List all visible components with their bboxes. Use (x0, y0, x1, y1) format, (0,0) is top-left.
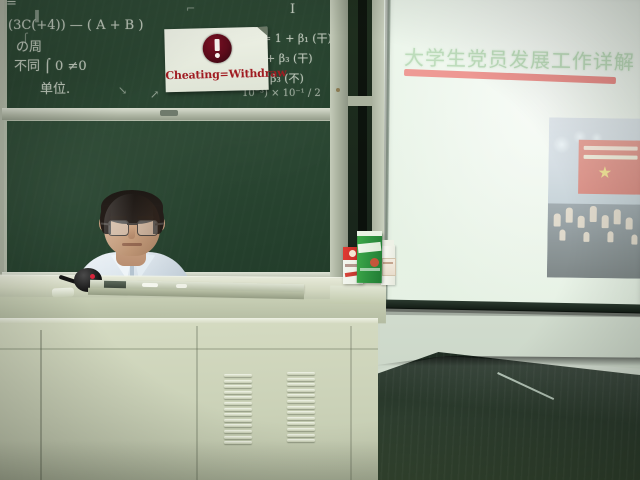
chalk-text: ⌐ (186, 2, 195, 15)
vent-slat (224, 408, 252, 411)
green-box-seal (370, 258, 379, 267)
vent-slat (287, 389, 315, 392)
slide-photo (547, 117, 640, 278)
chalk-text: ↗ (150, 88, 159, 101)
green-product-box (357, 233, 382, 283)
chalk-text: の周 (16, 36, 42, 55)
photo-red-banner (578, 140, 640, 195)
warning-sign-text: Cheating=Withdraw (165, 67, 268, 83)
vent-slat (287, 422, 315, 425)
chalk-text: = 1 + β₁ (干) (262, 30, 332, 46)
microphone-indicator-light (90, 274, 95, 279)
vent-slat (287, 417, 315, 420)
vent-slat (224, 374, 252, 377)
vent-slat (287, 434, 315, 437)
chalk-text: = (6, 0, 17, 11)
photo-crowd (547, 203, 640, 278)
chalk-text: ↘ (118, 84, 127, 97)
desk-surface-right (330, 286, 386, 305)
vent-slat (287, 400, 315, 403)
chalk-stick (176, 284, 187, 288)
green-box-text (360, 268, 380, 271)
vent-slat (287, 428, 315, 431)
chalk-text: 单位. (40, 78, 70, 97)
column-screw (336, 88, 340, 92)
exclamation-dot-icon (215, 53, 220, 58)
vent-slat (224, 380, 252, 383)
vent-slat (224, 396, 252, 399)
green-box-top (357, 231, 382, 236)
vent-slat (224, 391, 252, 394)
vent-slat (224, 402, 252, 405)
vent-slat (287, 394, 315, 397)
vent-slat (224, 430, 252, 433)
vent-slat (224, 413, 252, 416)
red-box-seal (349, 250, 356, 257)
lecture-hall-photo: 大学生党员发展工作详解 = ‖ (3C(+ (0, 0, 640, 480)
chalk-text: 不同 ⌠ 0 ≠0 (14, 55, 87, 74)
chalk-text: + β₃ (干) (266, 50, 313, 66)
blackboard-eraser (104, 281, 126, 288)
chalk-text: I (290, 2, 295, 17)
chalk-bracket: ⎧ (22, 34, 29, 44)
bottle-label (382, 258, 396, 276)
podium-floor-shadow (0, 440, 378, 480)
vent-slat (224, 419, 252, 422)
column-cross-brace (348, 96, 374, 106)
podium-top-edge (0, 318, 378, 324)
vent-slat (287, 372, 315, 375)
warning-sign: Cheating=Withdraw (164, 27, 269, 92)
vent-slat (287, 378, 315, 381)
exclamation-mark-icon (214, 39, 219, 51)
chalk-stick (142, 283, 158, 287)
vent-slat (287, 383, 315, 386)
chalk-text: (3C(+4)) — ( A + B ) (8, 18, 143, 33)
vent-slat (287, 406, 315, 409)
podium-vent-left (224, 374, 252, 448)
podium-vent-right (287, 372, 315, 446)
microphone-base (52, 287, 74, 297)
speaker-face-shading (104, 194, 160, 256)
podium-panel-line (0, 348, 378, 350)
vent-slat (224, 436, 252, 439)
bottle-label-text (383, 262, 393, 264)
vent-slat (224, 424, 252, 427)
sign-torn-corner (257, 27, 267, 36)
blackboard-rail-clip (160, 110, 178, 116)
vent-slat (224, 385, 252, 388)
vent-slat (287, 411, 315, 414)
bottle-cap (382, 240, 394, 246)
